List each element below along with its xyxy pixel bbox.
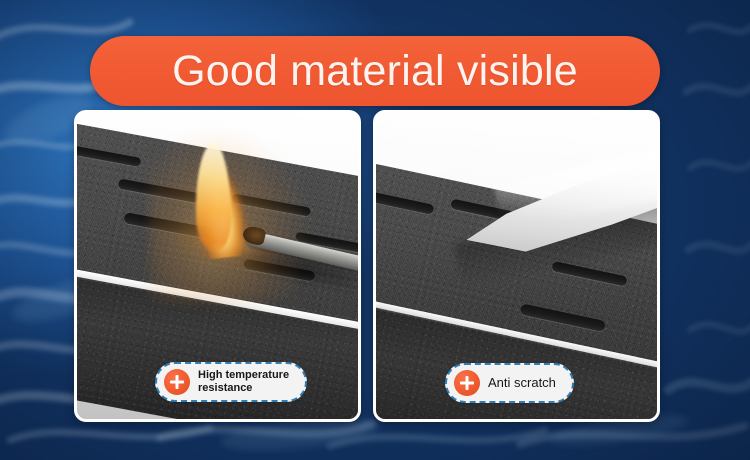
badge-label: Anti scratch <box>488 376 556 391</box>
badge-anti-scratch: Anti scratch <box>445 363 574 403</box>
badge-label: High temperature resistance <box>198 369 289 394</box>
plus-icon <box>454 370 480 396</box>
badge-high-temperature-resistance: High temperature resistance <box>155 362 307 402</box>
title-banner: Good material visible <box>90 36 660 106</box>
promo-image: Good material visible <box>0 0 750 460</box>
plus-icon <box>164 369 190 395</box>
page-title: Good material visible <box>172 50 578 93</box>
